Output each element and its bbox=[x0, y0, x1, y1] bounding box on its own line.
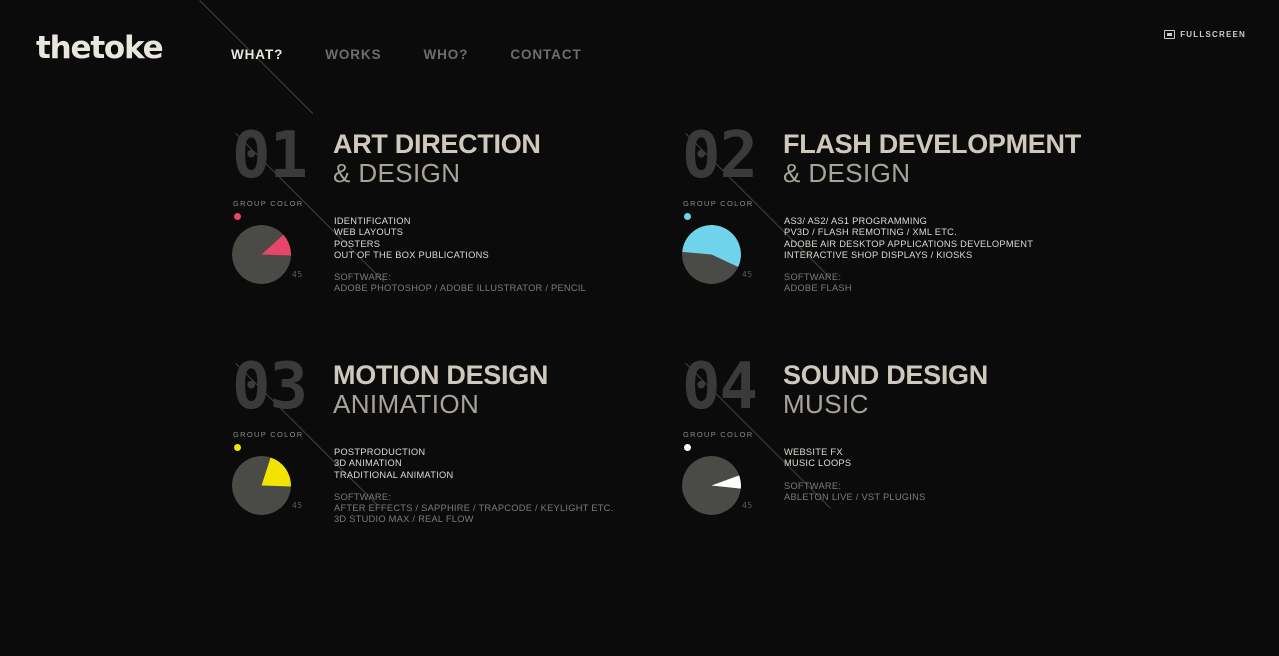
nav-contact[interactable]: CONTACT bbox=[510, 47, 623, 63]
pie-value-label: 45 bbox=[292, 501, 303, 510]
service-software-line: ADOBE FLASH bbox=[784, 283, 1033, 294]
service-bullet-list: WEBSITE FXMUSIC LOOPS bbox=[784, 447, 926, 470]
service-pie-chart: 45 bbox=[232, 225, 312, 287]
service-headings: MOTION DESIGNANIMATION bbox=[333, 360, 548, 420]
service-number: 03 bbox=[232, 355, 307, 419]
service-bullet: INTERACTIVE SHOP DISPLAYS / KIOSKS bbox=[784, 250, 1033, 261]
service-title: FLASH DEVELOPMENT bbox=[783, 129, 1081, 159]
group-color-swatch bbox=[234, 213, 241, 220]
service-title: SOUND DESIGN bbox=[783, 360, 988, 390]
service-bullet: WEBSITE FX bbox=[784, 447, 926, 458]
service-software-list: SOFTWARE:ADOBE FLASH bbox=[784, 272, 1033, 295]
service-bullet-list: IDENTIFICATIONWEB LAYOUTSPOSTERSOUT OF T… bbox=[334, 216, 586, 261]
group-color-swatch bbox=[684, 213, 691, 220]
service-bullet: ADOBE AIR DESKTOP APPLICATIONS DEVELOPME… bbox=[784, 239, 1033, 250]
group-color-label: GROUP COLOR bbox=[233, 430, 303, 439]
service-number: 02 bbox=[682, 124, 757, 188]
service-software-list: SOFTWARE:AFTER EFFECTS / SAPPHIRE / TRAP… bbox=[334, 492, 613, 526]
service-subtitle: & DESIGN bbox=[333, 159, 541, 189]
service-software-line: SOFTWARE: bbox=[334, 492, 613, 503]
service-software-line: SOFTWARE: bbox=[784, 481, 926, 492]
service-details: AS3/ AS2/ AS1 PROGRAMMINGPV3D / FLASH RE… bbox=[784, 216, 1033, 295]
service-details: IDENTIFICATIONWEB LAYOUTSPOSTERSOUT OF T… bbox=[334, 216, 586, 295]
pie-value-label: 45 bbox=[742, 270, 753, 279]
service-pie-chart: 45 bbox=[682, 456, 762, 518]
group-color-label: GROUP COLOR bbox=[683, 430, 753, 439]
nav-works[interactable]: WORKS bbox=[325, 47, 423, 63]
service-title: MOTION DESIGN bbox=[333, 360, 548, 390]
service-pie-chart: 45 bbox=[682, 225, 762, 287]
service-bullet: PV3D / FLASH REMOTING / XML etc. bbox=[784, 227, 1033, 238]
pie-value-label: 45 bbox=[292, 270, 303, 279]
service-software-line: AFTER EFFECTS / SAPPHIRE / TRAPCODE / KE… bbox=[334, 503, 613, 514]
service-bullet: POSTPRODUCTION bbox=[334, 447, 613, 458]
service-bullet: AS3/ AS2/ AS1 PROGRAMMING bbox=[784, 216, 1033, 227]
group-color-label: GROUP COLOR bbox=[683, 199, 753, 208]
fullscreen-icon bbox=[1164, 30, 1175, 39]
service-pie-chart: 45 bbox=[232, 456, 312, 518]
main-navigation: WHAT?WORKSWHO?CONTACT bbox=[231, 47, 624, 63]
fullscreen-label: FULLSCREEN bbox=[1180, 30, 1246, 39]
service-title: ART DIRECTION bbox=[333, 129, 541, 159]
service-headings: ART DIRECTION& DESIGN bbox=[333, 129, 541, 189]
service-headings: SOUND DESIGNMUSIC bbox=[783, 360, 988, 420]
group-color-swatch bbox=[234, 444, 241, 451]
service-number: 04 bbox=[682, 355, 757, 419]
service-subtitle: MUSIC bbox=[783, 390, 988, 420]
service-details: POSTPRODUCTION3D ANIMATIONTRADITIONAL AN… bbox=[334, 447, 613, 526]
service-bullet: POSTERS bbox=[334, 239, 586, 250]
service-bullet: TRADITIONAL ANIMATION bbox=[334, 470, 613, 481]
pie-value-label: 45 bbox=[742, 501, 753, 510]
service-bullet-list: AS3/ AS2/ AS1 PROGRAMMINGPV3D / FLASH RE… bbox=[784, 216, 1033, 261]
service-software-line: SOFTWARE: bbox=[334, 272, 586, 283]
fullscreen-button[interactable]: FULLSCREEN bbox=[1164, 30, 1246, 39]
service-bullet-list: POSTPRODUCTION3D ANIMATIONTRADITIONAL AN… bbox=[334, 447, 613, 481]
group-color-swatch bbox=[684, 444, 691, 451]
service-bullet: 3D ANIMATION bbox=[334, 458, 613, 469]
service-software-line: SOFTWARE: bbox=[784, 272, 1033, 283]
service-headings: FLASH DEVELOPMENT& DESIGN bbox=[783, 129, 1081, 189]
service-software-line: ADOBE PHOTOSHOP / ADOBE ILLUSTRATOR / PE… bbox=[334, 283, 586, 294]
service-bullet: MUSIC LOOPS bbox=[784, 458, 926, 469]
service-subtitle: & DESIGN bbox=[783, 159, 1081, 189]
group-color-label: GROUP COLOR bbox=[233, 199, 303, 208]
service-software-line: 3D STUDIO MAX / REAL FLOW bbox=[334, 514, 613, 525]
page-root: thetoke WHAT?WORKSWHO?CONTACT FULLSCREEN… bbox=[0, 0, 1279, 656]
nav-who[interactable]: WHO? bbox=[423, 47, 510, 63]
service-number: 01 bbox=[232, 124, 307, 188]
service-bullet: WEB LAYOUTS bbox=[334, 227, 586, 238]
service-bullet: OUT OF THE BOX PUBLICATIONS bbox=[334, 250, 586, 261]
service-bullet: IDENTIFICATION bbox=[334, 216, 586, 227]
service-software-list: SOFTWARE:ADOBE PHOTOSHOP / ADOBE ILLUSTR… bbox=[334, 272, 586, 295]
site-logo[interactable]: thetoke bbox=[36, 33, 162, 64]
service-software-list: SOFTWARE:ABLETON LIVE / VST PLUGINS bbox=[784, 481, 926, 504]
nav-what[interactable]: WHAT? bbox=[231, 47, 325, 63]
service-subtitle: ANIMATION bbox=[333, 390, 548, 420]
service-software-line: ABLETON LIVE / VST PLUGINS bbox=[784, 492, 926, 503]
service-details: WEBSITE FXMUSIC LOOPSSOFTWARE:ABLETON LI… bbox=[784, 447, 926, 503]
